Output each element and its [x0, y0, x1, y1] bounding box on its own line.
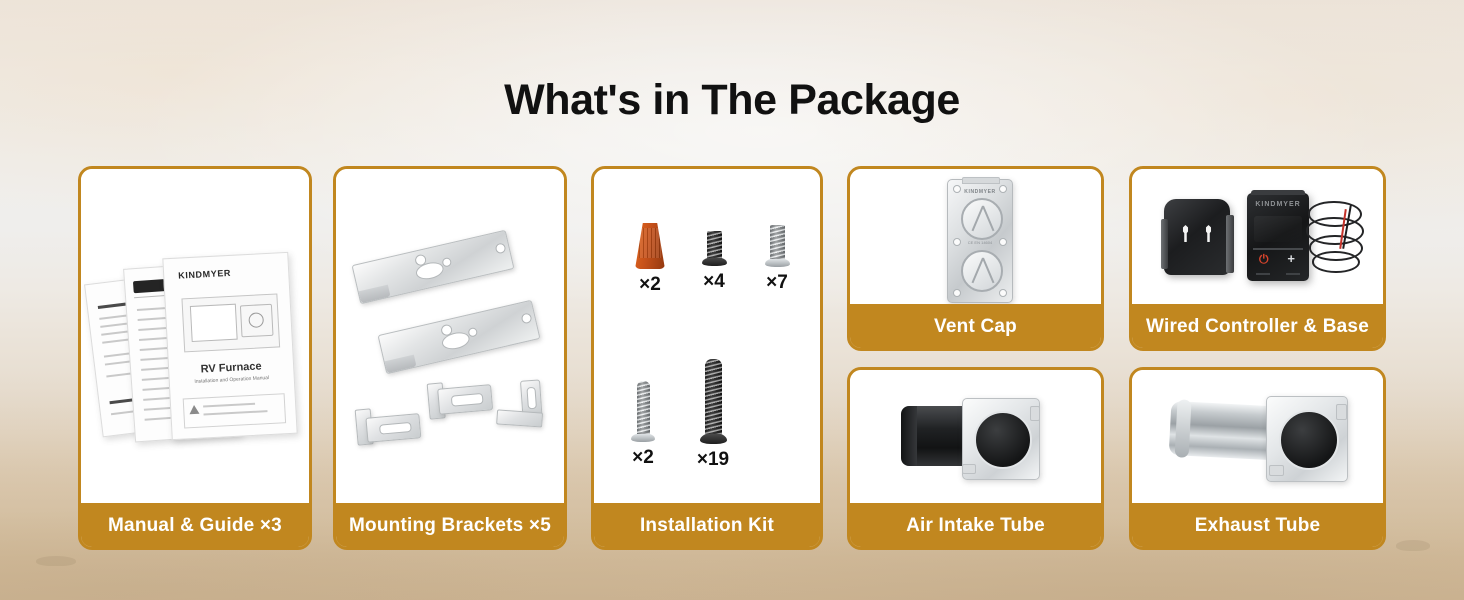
part-silver-screw-short: ×7 — [754, 225, 800, 294]
page-title: What's in The Package — [0, 76, 1464, 125]
manual-guide-image: KINDMYER RV Furnace Installation and Ope… — [81, 169, 309, 503]
background-brush-3 — [1396, 540, 1430, 551]
controller-plus-icon[interactable]: + — [1287, 252, 1295, 265]
vent-louver-bottom — [961, 250, 1003, 292]
background-brush-2 — [36, 556, 76, 566]
controller-wire-loop-4 — [1312, 251, 1360, 273]
small-l-bracket-middle — [427, 378, 492, 417]
mounting-brackets-image — [336, 169, 564, 503]
manual-page-front: KINDMYER RV Furnace Installation and Ope… — [162, 252, 297, 440]
controller-brand-text: KINDMYER — [1247, 201, 1309, 208]
part-black-screw-short: ×4 — [691, 231, 737, 293]
silver-screw-long-icon — [631, 381, 655, 442]
card-label-mounting-brackets: Mounting Brackets ×5 — [335, 503, 565, 548]
installation-kit-image: ×2 ×4 ×7 — [594, 169, 820, 503]
long-bracket-1 — [352, 230, 515, 305]
card-manual-guide[interactable]: KINDMYER RV Furnace Installation and Ope… — [78, 166, 312, 550]
card-air-intake-tube[interactable]: Air Intake Tube — [847, 367, 1104, 550]
card-mounting-brackets[interactable]: Mounting Brackets ×5 — [333, 166, 567, 550]
vent-cap-image: KINDMYER CE EN 14604 — [850, 169, 1101, 304]
air-intake-tube-image — [850, 370, 1101, 503]
card-installation-kit[interactable]: ×2 ×4 ×7 — [591, 166, 823, 550]
small-l-bracket-left — [355, 404, 420, 443]
part-wire-nut: ×2 — [622, 223, 678, 296]
card-label-installation-kit: Installation Kit — [593, 503, 821, 548]
wired-controller-unit: KINDMYER ⏻ + — [1247, 193, 1309, 281]
card-exhaust-tube[interactable]: Exhaust Tube — [1129, 367, 1386, 550]
vent-louver-top — [961, 198, 1003, 240]
black-screw-long-icon — [700, 359, 727, 444]
card-vent-cap[interactable]: KINDMYER CE EN 14604 Vent Cap — [847, 166, 1104, 351]
card-label-wired-controller-base: Wired Controller & Base — [1131, 304, 1384, 349]
controller-power-icon[interactable]: ⏻ — [1259, 253, 1269, 265]
black-screw-long-qty: ×19 — [697, 449, 729, 471]
black-screw-short-icon — [702, 231, 727, 266]
silver-screw-short-qty: ×7 — [766, 272, 788, 294]
part-black-screw-long: ×19 — [688, 359, 738, 471]
small-l-bracket-right — [494, 379, 544, 440]
package-contents-infographic: What's in The Package — [0, 0, 1464, 600]
card-label-vent-cap: Vent Cap — [849, 304, 1102, 349]
exhaust-tube-image — [1132, 370, 1383, 503]
air-intake-tube-assembly — [904, 392, 1054, 488]
wire-nut-icon — [635, 223, 665, 269]
wire-nut-qty: ×2 — [639, 274, 661, 296]
card-label-manual-guide: Manual & Guide ×3 — [80, 503, 310, 548]
wired-controller-base-image: KINDMYER ⏻ + — [1132, 169, 1383, 304]
exhaust-tube-assembly — [1170, 388, 1350, 488]
black-screw-short-qty: ×4 — [703, 271, 725, 293]
part-silver-screw-long: ×2 — [618, 381, 668, 469]
card-label-exhaust-tube: Exhaust Tube — [1131, 503, 1384, 548]
card-label-air-intake-tube: Air Intake Tube — [849, 503, 1102, 548]
card-wired-controller-base[interactable]: KINDMYER ⏻ + Wired Controller & Base — [1129, 166, 1386, 351]
controller-wall-base — [1164, 199, 1230, 275]
vent-cap-plate: KINDMYER CE EN 14604 — [947, 179, 1013, 303]
silver-screw-short-icon — [765, 225, 790, 267]
long-bracket-2 — [378, 300, 541, 375]
manual-brand-text: KINDMYER — [178, 268, 231, 281]
silver-screw-long-qty: ×2 — [632, 447, 654, 469]
